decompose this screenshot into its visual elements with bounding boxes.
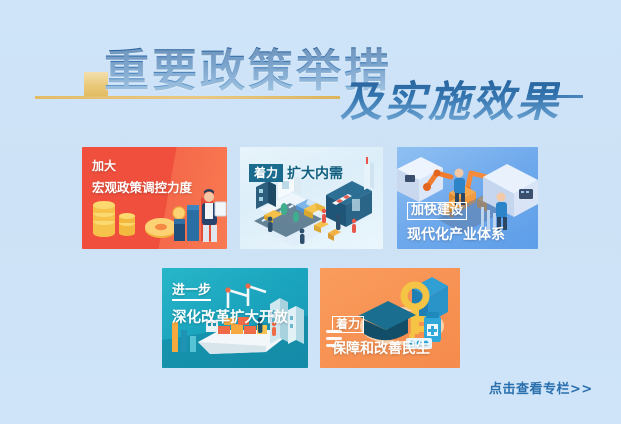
poster-canvas: 重要政策举措 及实施效果 <box>0 0 621 424</box>
policy-card-expand-domestic-demand[interactable]: 着力 扩大内需 <box>240 147 383 249</box>
policy-card-macro-policy[interactable]: 加大 宏观政策调控力度 <box>82 147 227 249</box>
card-label-top: 加大 <box>92 157 192 174</box>
card-label-top: 着力 <box>249 164 283 182</box>
policy-card-improve-peoples-livelihood[interactable]: 着力 保障和改善民生 <box>320 268 460 368</box>
card-labels: 加快建设 现代化产业体系 <box>407 201 505 244</box>
card-label-top: 进一步 <box>172 279 211 301</box>
title-block: 重要政策举措 及实施效果 <box>0 0 621 140</box>
page-title-line-2: 及实施效果 <box>340 68 560 129</box>
card-labels: 着力 扩大内需 <box>249 163 343 183</box>
card-label-main: 保障和改善民生 <box>332 338 430 358</box>
policy-card-deepen-reform-opening-up[interactable]: 进一步 深化改革扩大开放 <box>162 268 308 368</box>
view-column-link[interactable]: 点击查看专栏>> <box>489 378 593 397</box>
card-label-main: 深化改革扩大开放 <box>172 306 288 327</box>
card-label-main: 现代化产业体系 <box>407 224 505 244</box>
card-labels: 进一步 深化改革扩大开放 <box>172 279 288 327</box>
card-label-main: 宏观政策调控力度 <box>92 177 192 196</box>
card-label-top: 着力 <box>332 316 364 333</box>
card-labels: 着力 保障和改善民生 <box>332 315 430 358</box>
card-label-main: 扩大内需 <box>287 163 343 183</box>
card-labels: 加大 宏观政策调控力度 <box>92 157 192 196</box>
card-label-top: 加快建设 <box>407 202 467 220</box>
policy-card-modern-industrial-system[interactable]: 加快建设 现代化产业体系 <box>397 147 538 249</box>
